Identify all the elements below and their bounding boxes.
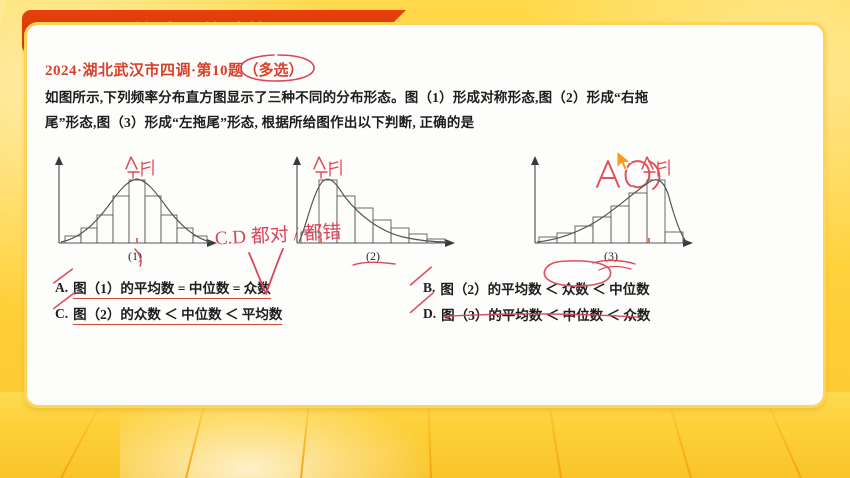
option-c-text: 图（2）的众数 ＜ 中位数 ＜ 平均数 — [73, 303, 282, 325]
x-axis-arrow — [445, 239, 455, 247]
options-row-1: A. 图（1）的平均数 = 中位数 = 众数 B. 图（2）的平均数 ＜ 众数 … — [41, 275, 809, 301]
frequency-curve-1 — [61, 179, 211, 242]
option-a-text: 图（1）的平均数 = 中位数 = 众数 — [73, 277, 271, 299]
handwritten-check-icon — [243, 247, 289, 299]
handwritten-underline-caption-2 — [351, 259, 397, 269]
content-card: 2024·湖北武汉市四调·第10题 （多选） 如图所示,下列频率分布直方图显示了… — [24, 22, 826, 408]
histogram-bars-1 — [65, 180, 207, 243]
handwritten-mode-label-2 — [311, 153, 345, 179]
histogram-panel-1: (1) — [37, 153, 233, 269]
option-c-label: C. — [55, 306, 68, 322]
option-a[interactable]: A. 图（1）的平均数 = 中位数 = 众数 — [41, 277, 411, 299]
option-d-label: D. — [423, 306, 436, 322]
y-axis-arrow — [531, 156, 539, 165]
question-line-1: 如图所示,下列频率分布直方图显示了三种不同的分布形态。图（1）形成对称形态,图（… — [45, 85, 809, 110]
content-card-inner: 2024·湖北武汉市四调·第10题 （多选） 如图所示,下列频率分布直方图显示了… — [27, 25, 823, 405]
source-line: 2024·湖北武汉市四调·第10题 （多选） — [45, 59, 304, 80]
option-b-label: B. — [423, 280, 435, 296]
handwritten-mode-label-3 — [639, 153, 673, 179]
slide-canvas: 统计量的计算 2024·湖北武汉市四调·第10题 （多选） 如图所示,下列频率分… — [0, 0, 850, 478]
histogram-panel-3: (3) — [513, 153, 709, 269]
y-axis-arrow — [293, 156, 301, 165]
multiselect-tag-label: （多选） — [244, 63, 304, 79]
handwritten-mode-label-1 — [123, 153, 157, 179]
question-text: 如图所示,下列频率分布直方图显示了三种不同的分布形态。图（1）形成对称形态,图（… — [45, 85, 809, 135]
handwritten-underline-caption-3 — [591, 258, 637, 272]
option-c[interactable]: C. 图（2）的众数 ＜ 中位数 ＜ 平均数 — [41, 303, 411, 325]
multiselect-tag: （多选） — [244, 59, 304, 80]
handwritten-check-caption-1 — [129, 245, 153, 267]
option-b-text: 图（2）的平均数 ＜ 众数 ＜ 中位数 — [440, 278, 649, 298]
question-line-2: 尾”形态,图（3）形成“左拖尾”形态, 根据所给图作出以下判断, 正确的是 — [45, 110, 809, 135]
options-row-2: C. 图（2）的众数 ＜ 中位数 ＜ 平均数 D. 图（3）的平均数 ＜ 中位数… — [41, 301, 809, 327]
options-list: A. 图（1）的平均数 = 中位数 = 众数 B. 图（2）的平均数 ＜ 众数 … — [41, 275, 809, 327]
option-b[interactable]: B. 图（2）的平均数 ＜ 众数 ＜ 中位数 — [411, 278, 650, 298]
histogram-svg-3 — [513, 153, 709, 253]
option-d-text: 图（3）的平均数 ＜ 中位数 ＜ 众数 — [441, 304, 650, 324]
source-text: 2024·湖北武汉市四调·第10题 — [45, 59, 244, 80]
y-axis-arrow — [55, 156, 63, 165]
floor-facet — [60, 402, 102, 478]
floor-facet — [765, 399, 802, 478]
histogram-group: (1) — [37, 153, 709, 269]
option-d[interactable]: D. 图（3）的平均数 ＜ 中位数 ＜ 众数 — [411, 304, 650, 324]
x-axis-arrow — [683, 239, 693, 247]
option-a-label: A. — [55, 280, 68, 296]
